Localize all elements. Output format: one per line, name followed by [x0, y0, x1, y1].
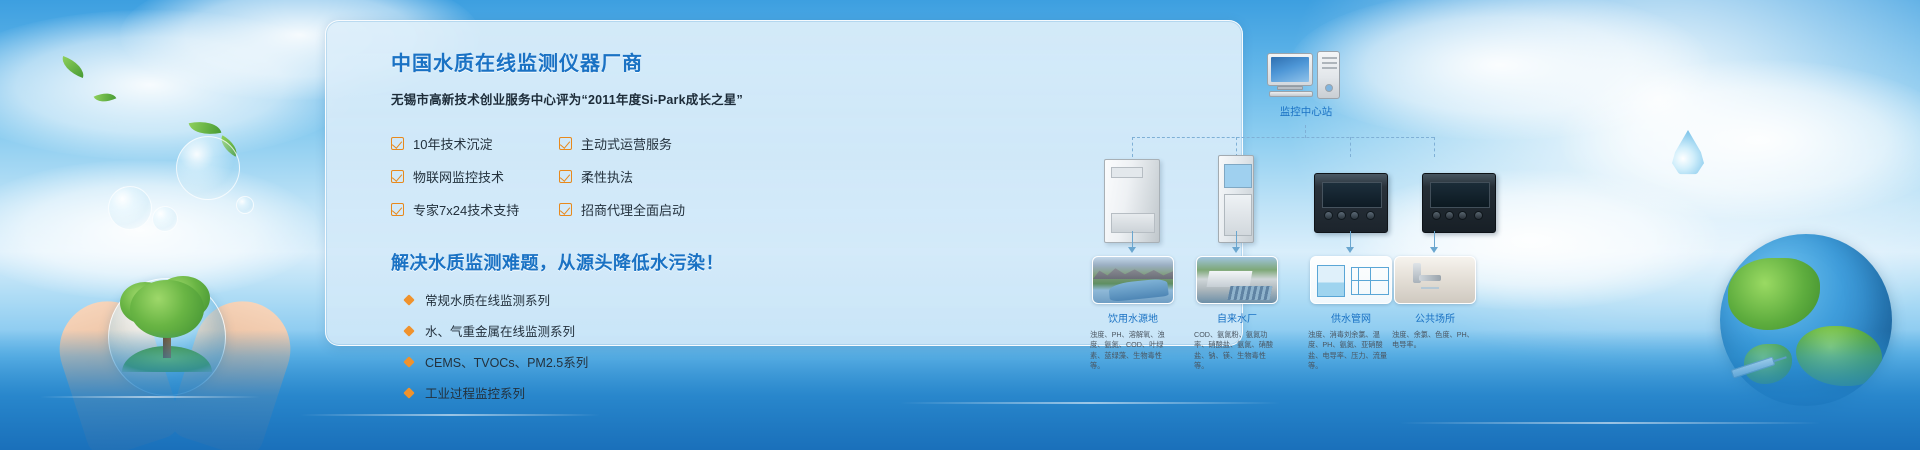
- keyboard-icon: [1269, 91, 1313, 97]
- feature-item[interactable]: 招商代理全面启动: [559, 200, 771, 219]
- arrow-stem-3: [1350, 231, 1351, 249]
- scene-description: COD、氨氮粉、氨氮功率、硝酸盐、氨氮、硝酸盐、钠、镁、生物毒性等。: [1194, 330, 1280, 372]
- water-streak-1: [40, 396, 260, 398]
- series-label: 常规水质在线监测系列: [425, 290, 550, 309]
- bubble-3: [152, 206, 178, 232]
- list-item[interactable]: 常规水质在线监测系列: [391, 290, 771, 309]
- river-source-thumb: [1092, 256, 1174, 304]
- bubble-1: [176, 136, 240, 200]
- cloud-1: [0, 10, 360, 160]
- scene-card[interactable]: 饮用水源地 浊度、PH、溶解氧、浊度、氨氮、COD、叶绿素、蓝绿藻、生物毒性等。: [1092, 256, 1174, 372]
- arrow-stem-4: [1434, 231, 1435, 249]
- page-subtitle: 无锡市高新技术创业服务中心评为“2011年度Si-Park成长之星”: [391, 89, 771, 108]
- feature-item[interactable]: 物联网监控技术: [391, 167, 559, 186]
- earth-landmass-1: [1728, 258, 1820, 330]
- feature-label: 柔性执法: [581, 167, 633, 186]
- device-row: [1086, 151, 1526, 251]
- arrow-stem-1: [1132, 231, 1133, 249]
- series-label: 工业过程监控系列: [425, 383, 525, 402]
- product-series-list: 常规水质在线监测系列 水、气重金属在线监测系列 CEMS、TVOCs、PM2.5…: [391, 290, 771, 402]
- feature-item[interactable]: 专家7x24技术支持: [391, 200, 559, 219]
- checkbox-icon: [559, 203, 572, 216]
- monitor-screen: [1271, 57, 1309, 82]
- water-surface: [0, 330, 1920, 450]
- diamond-bullet-icon: [403, 294, 414, 305]
- rack-analyzer[interactable]: [1218, 155, 1254, 243]
- feature-checklist: 10年技术沉淀 主动式运营服务 物联网监控技术 柔性执法 专家7x24技术支持 …: [391, 134, 771, 219]
- diamond-bullet-icon: [403, 325, 414, 336]
- left-copy-column: 中国水质在线监测仪器厂商 无锡市高新技术创业服务中心评为“2011年度Si-Pa…: [391, 47, 771, 402]
- feature-item[interactable]: 主动式运营服务: [559, 134, 771, 153]
- scene-caption: 自来水厂: [1196, 310, 1278, 325]
- controller-buttons[interactable]: [1324, 211, 1380, 225]
- scene-caption: 公共场所: [1394, 310, 1476, 325]
- arrow-stem-2: [1236, 231, 1237, 249]
- list-item[interactable]: 水、气重金属在线监测系列: [391, 321, 771, 340]
- leaf-icon-1: [58, 56, 87, 78]
- scene-card[interactable]: 自来水厂 COD、氨氮粉、氨氮功率、硝酸盐、氨氮、硝酸盐、钠、镁、生物毒性等。: [1196, 256, 1278, 372]
- controller-lcd: [1430, 182, 1490, 208]
- water-streak-4: [1400, 422, 1820, 424]
- scene-description: 浊度、余氯、色度、PH、电导率。: [1392, 330, 1478, 351]
- content-panel: 中国水质在线监测仪器厂商 无锡市高新技术创业服务中心评为“2011年度Si-Pa…: [325, 20, 1243, 346]
- checkbox-icon: [391, 137, 404, 150]
- pipe-network-thumb: [1310, 256, 1392, 304]
- feature-label: 10年技术沉淀: [413, 134, 492, 153]
- monitoring-center-label: 监控中心站: [1256, 104, 1356, 119]
- water-plant-thumb: [1196, 256, 1278, 304]
- bubble-2: [108, 186, 152, 230]
- feature-label: 招商代理全面启动: [581, 200, 685, 219]
- scene-card[interactable]: 公共场所 浊度、余氯、色度、PH、电导率。: [1394, 256, 1476, 351]
- scene-description: 浊度、消毒刘余氯、温度、PH、氨氮、亚硝酸盐、电导率、压力、流量等。: [1308, 330, 1394, 372]
- page-title: 中国水质在线监测仪器厂商: [391, 47, 771, 76]
- list-item[interactable]: CEMS、TVOCs、PM2.5系列: [391, 352, 771, 371]
- monitoring-center-node[interactable]: 监控中心站: [1256, 51, 1356, 119]
- checkbox-icon: [391, 203, 404, 216]
- monitor-stand: [1277, 86, 1303, 90]
- leaf-icon-2: [94, 88, 117, 106]
- feature-label: 专家7x24技术支持: [413, 200, 519, 219]
- scene-caption: 饮用水源地: [1092, 310, 1174, 325]
- series-label: 水、气重金属在线监测系列: [425, 321, 575, 340]
- controller-lcd: [1322, 182, 1382, 208]
- scene-card[interactable]: 供水管网 浊度、消毒刘余氯、温度、PH、氨氮、亚硝酸盐、电导率、压力、流量等。: [1310, 256, 1392, 372]
- monitoring-architecture-diagram: 监控中心站: [1086, 51, 1526, 351]
- series-label: CEMS、TVOCs、PM2.5系列: [425, 352, 588, 371]
- bubble-4: [236, 196, 254, 214]
- list-item[interactable]: 工业过程监控系列: [391, 383, 771, 402]
- water-streak-3: [900, 402, 1280, 404]
- computer-workstation-icon: [1267, 51, 1345, 99]
- feature-item[interactable]: 10年技术沉淀: [391, 134, 559, 153]
- cloud-4: [1560, 60, 1920, 220]
- checkbox-icon: [391, 170, 404, 183]
- panel-controller-2[interactable]: [1422, 173, 1496, 233]
- feature-label: 主动式运营服务: [581, 134, 672, 153]
- water-droplet-icon: [1671, 130, 1705, 176]
- panel-controller-1[interactable]: [1314, 173, 1388, 233]
- scene-caption: 供水管网: [1310, 310, 1392, 325]
- section-headline: 解决水质监测难题，从源头降低水污染！: [391, 249, 771, 275]
- checkbox-icon: [559, 170, 572, 183]
- scene-description: 浊度、PH、溶解氧、浊度、氨氮、COD、叶绿素、蓝绿藻、生物毒性等。: [1090, 330, 1176, 372]
- monitor-icon: [1267, 53, 1313, 86]
- water-streak-2: [300, 414, 600, 416]
- diamond-bullet-icon: [403, 387, 414, 398]
- feature-item[interactable]: 柔性执法: [559, 167, 771, 186]
- connector-bus: [1132, 137, 1434, 138]
- pc-tower-icon: [1317, 51, 1340, 99]
- checkbox-icon: [559, 137, 572, 150]
- faucet-thumb: [1394, 256, 1476, 304]
- diamond-bullet-icon: [403, 356, 414, 367]
- feature-label: 物联网监控技术: [413, 167, 504, 186]
- controller-buttons[interactable]: [1432, 211, 1488, 225]
